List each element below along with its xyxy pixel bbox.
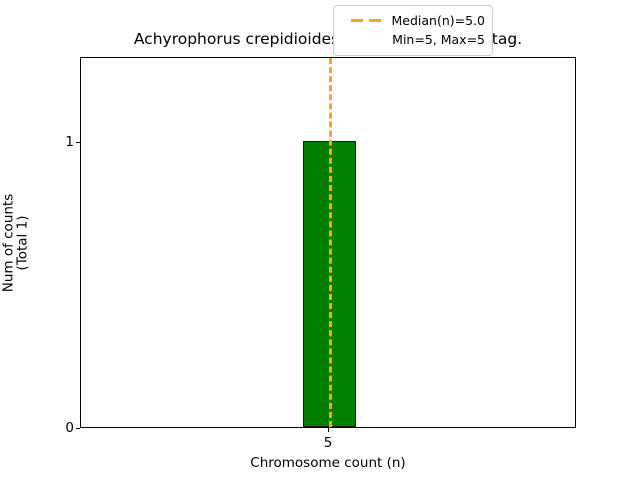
plot-area — [80, 57, 576, 428]
x-axis-ticks: 5 — [80, 428, 576, 458]
median-line — [329, 58, 332, 427]
y-axis-tick-labels: 0 1 — [56, 57, 74, 428]
x-tick-label-0: 5 — [324, 435, 333, 451]
y-tick-label-1: 1 — [65, 134, 74, 150]
legend-entry-minmax: Min=5, Max=5 — [341, 30, 485, 49]
legend-label-median: Median(n)=5.0 — [392, 13, 486, 28]
chart-legend[interactable]: Median(n)=5.0 Min=5, Max=5 — [333, 5, 493, 56]
x-tick-mark-0 — [328, 428, 329, 432]
figure-canvas: Achyrophorus crepidioides (Miyabe & Kudô… — [0, 0, 640, 480]
legend-entry-median: Median(n)=5.0 — [341, 11, 485, 30]
x-axis-label: Chromosome count (n) — [80, 455, 576, 471]
legend-label-minmax: Min=5, Max=5 — [392, 32, 485, 47]
y-axis-label-line-2: (Total 1) — [14, 57, 32, 428]
dashed-line-icon — [350, 14, 384, 28]
chart-title: Achyrophorus crepidioides (Miyabe & Kudô… — [80, 30, 576, 48]
y-axis-label: Num of counts (Total 1) — [0, 57, 56, 428]
y-tick-label-0: 0 — [65, 420, 74, 436]
